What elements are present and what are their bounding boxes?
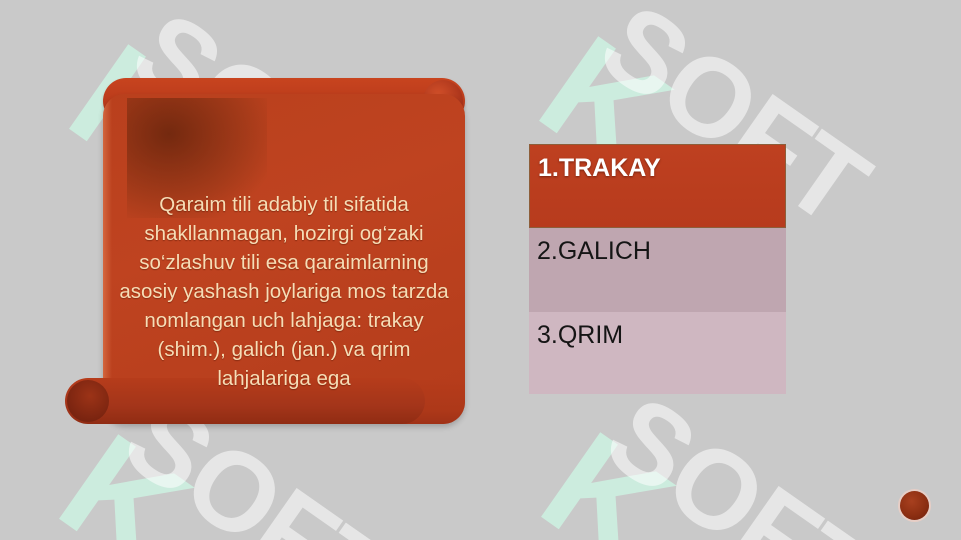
list-item-label: 2.GALICH [537,237,651,266]
watermark-text: SOFT [584,370,896,540]
list-item-galich[interactable]: 2.GALICH [529,228,786,312]
corner-dot-decoration [900,491,929,520]
list-item-trakay[interactable]: 1.TRAKAY [529,144,786,228]
list-item-label: 1.TRAKAY [538,154,661,183]
scroll-paragraph-text: Qaraim tili adabiy til sifatida shakllan… [103,190,465,393]
scroll-shape: Qaraim tili adabiy til sifatida shakllan… [57,72,465,440]
slide-canvas: K SOFT K SOFT K SOFT K SOFT Qaraim tili … [0,0,961,540]
list-item-qrim[interactable]: 3.QRIM [529,312,786,394]
watermark-logo-icon: K [513,398,701,540]
dialect-list: 1.TRAKAY 2.GALICH 3.QRIM [529,144,786,394]
list-item-label: 3.QRIM [537,321,623,350]
